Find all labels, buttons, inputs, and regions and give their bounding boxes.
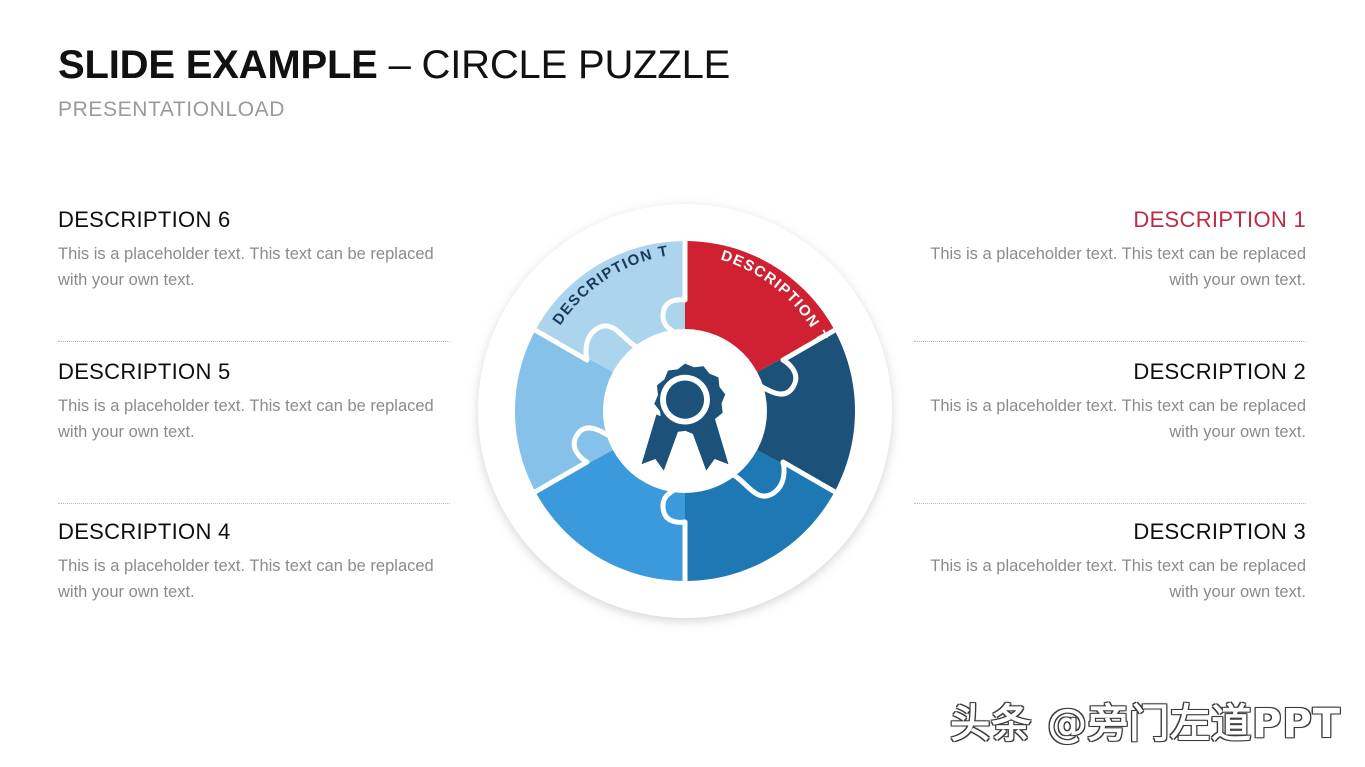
slide-header: SLIDE EXAMPLE – CIRCLE PUZZLE PRESENTATI… — [58, 44, 730, 122]
page-subtitle: PRESENTATIONLOAD — [58, 98, 730, 122]
description-2-body: This is a placeholder text. This text ca… — [914, 393, 1306, 445]
description-4-body: This is a placeholder text. This text ca… — [58, 553, 450, 605]
description-block-6: DESCRIPTION 6 This is a placeholder text… — [58, 208, 450, 293]
title-dash: – — [378, 43, 422, 87]
title-bold-part: SLIDE EXAMPLE — [58, 43, 378, 87]
description-5-body: This is a placeholder text. This text ca… — [58, 393, 450, 445]
separator-left-1 — [58, 341, 450, 342]
page-title: SLIDE EXAMPLE – CIRCLE PUZZLE — [58, 44, 730, 87]
description-4-heading: DESCRIPTION 4 — [58, 520, 450, 544]
description-1-body: This is a placeholder text. This text ca… — [914, 241, 1306, 293]
watermark: 头条 @旁门左道PPT — [950, 691, 1341, 749]
title-light-part: CIRCLE PUZZLE — [422, 43, 731, 87]
description-6-body: This is a placeholder text. This text ca… — [58, 241, 450, 293]
separator-right-2 — [914, 503, 1306, 504]
circle-puzzle-diagram: DESCRIPTION TEXT DESCRIPTION TEXT — [466, 192, 904, 630]
description-block-3: DESCRIPTION 3 This is a placeholder text… — [914, 520, 1306, 605]
description-6-heading: DESCRIPTION 6 — [58, 208, 450, 232]
description-5-heading: DESCRIPTION 5 — [58, 360, 450, 384]
description-3-heading: DESCRIPTION 3 — [914, 520, 1306, 544]
description-block-1: DESCRIPTION 1 This is a placeholder text… — [914, 208, 1306, 293]
description-2-heading: DESCRIPTION 2 — [914, 360, 1306, 384]
separator-left-2 — [58, 503, 450, 504]
description-block-4: DESCRIPTION 4 This is a placeholder text… — [58, 520, 450, 605]
description-1-heading: DESCRIPTION 1 — [914, 208, 1306, 232]
separator-right-1 — [914, 341, 1306, 342]
description-block-2: DESCRIPTION 2 This is a placeholder text… — [914, 360, 1306, 445]
description-block-5: DESCRIPTION 5 This is a placeholder text… — [58, 360, 450, 445]
description-3-body: This is a placeholder text. This text ca… — [914, 553, 1306, 605]
